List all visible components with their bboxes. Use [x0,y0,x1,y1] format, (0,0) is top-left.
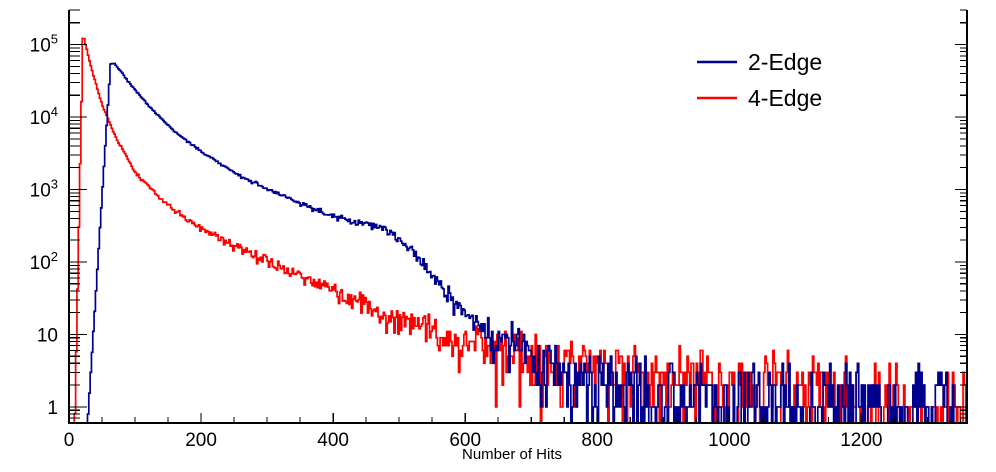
x-tick-label: 800 [581,430,613,451]
y-tick-label: 104 [30,104,58,129]
x-tick-label: 0 [64,430,75,451]
y-tick-label: 102 [30,249,58,274]
series-layer [69,38,967,423]
plot-svg: 020040060080010001200110102103104105 2-E… [0,0,996,472]
y-tick-label: 1 [47,398,58,419]
legend-label-4-edge: 4-Edge [748,85,822,111]
legend-label-2-edge: 2-Edge [748,49,822,75]
x-axis-title: Number of Hits [462,446,562,463]
y-tick-label: 105 [30,32,58,57]
y-tick-label: 103 [30,177,58,202]
axis-frame [69,10,967,423]
x-tick-label: 200 [185,430,217,451]
x-tick-label: 1000 [708,430,750,451]
series-2-edge [69,63,955,423]
tick-layer [69,10,967,423]
legend: 2-Edge4-Edge [697,49,822,111]
series-4-edge [69,38,967,423]
x-tick-label: 400 [317,430,349,451]
y-tick-label: 10 [37,325,58,346]
figure-canvas: 020040060080010001200110102103104105 2-E… [0,0,996,472]
x-tick-label: 1200 [840,430,882,451]
